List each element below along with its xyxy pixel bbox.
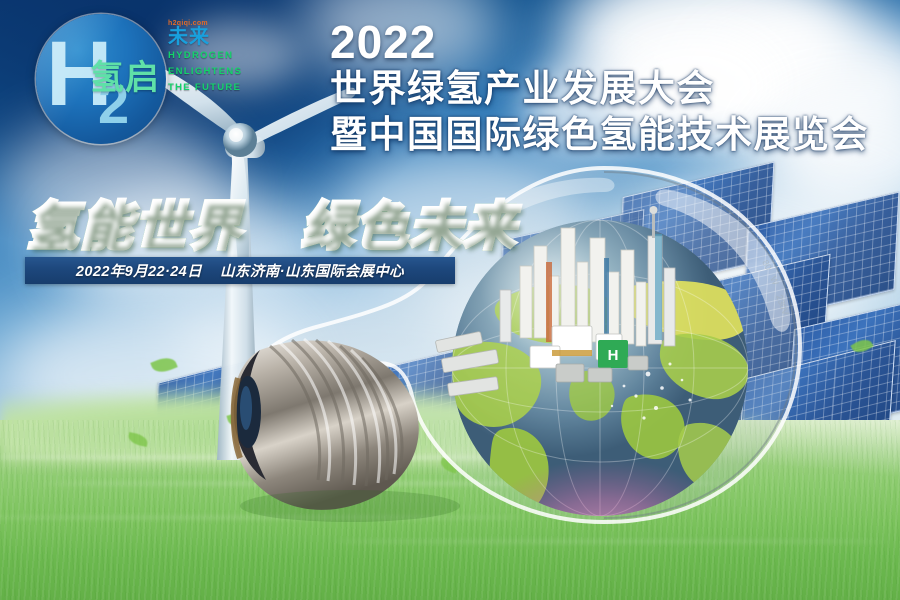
logo-tagline-line3: THE FUTURE [168, 80, 278, 96]
event-logo[interactable]: H 2 氢启 h2qiqi.com 未来 HYDROGEN ENLIGHTENS… [36, 14, 166, 144]
logo-tagline-line1: HYDROGEN [168, 48, 278, 64]
h-building: H [598, 340, 628, 368]
event-venue: 山东济南·山东国际会展中心 [220, 260, 404, 281]
title-block: 2022 世界绿氢产业发展大会 暨中国国际绿色氢能技术展览会 [330, 18, 890, 158]
logo-circle: H 2 氢启 [36, 14, 166, 144]
logo-tagline-line2: ENLIGHTENS [168, 64, 278, 80]
conference-poster: H 80 W [0, 0, 900, 600]
svg-text:H: H [608, 347, 619, 364]
event-title-line1: 世界绿氢产业发展大会 [330, 66, 890, 112]
logo-text-block: h2qiqi.com 未来 HYDROGEN ENLIGHTENS THE FU… [168, 20, 278, 96]
event-slogan: 氢能世界 绿色未来 [26, 184, 517, 259]
event-year: 2022 [330, 18, 890, 66]
slogan-part2: 绿色未来 [301, 198, 517, 256]
logo-cn-future: 未来 [168, 27, 278, 48]
date-venue-bar: 2022年9月22·24日 山东济南·山东国际会展中心 [25, 257, 455, 284]
slogan-part1: 氢能世界 [26, 198, 242, 256]
event-title-line2: 暨中国国际绿色氢能技术展览会 [330, 112, 890, 158]
event-date: 2022年9月22·24日 [76, 260, 202, 281]
